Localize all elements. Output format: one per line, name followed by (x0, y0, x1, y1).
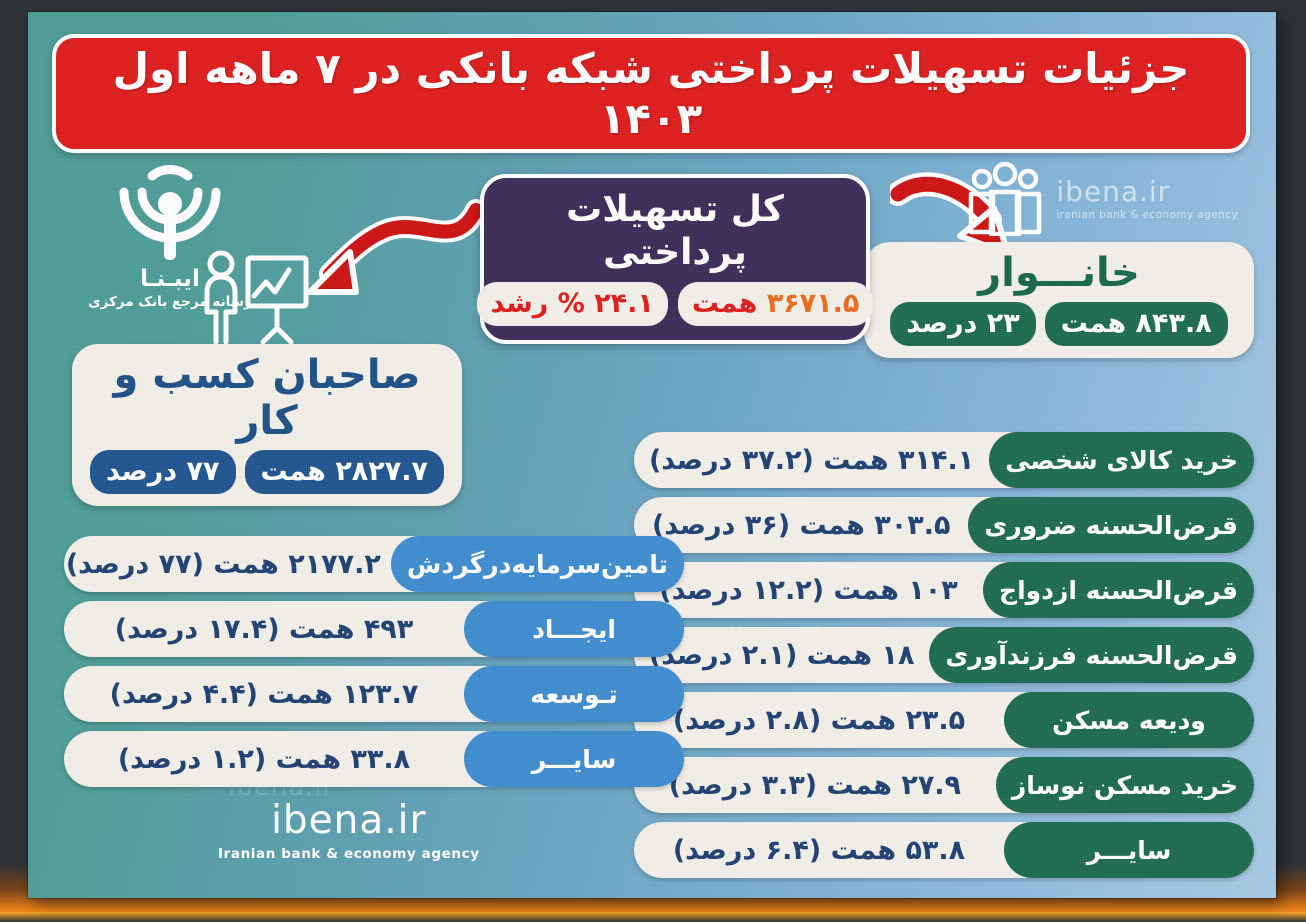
infographic-poster: ibena.ir ibena.ir ibena.ir ibena.ir جزئی… (28, 12, 1276, 898)
table-row: ودیعه مسکن۲۳.۵ همت (۲.۸ درصد) (634, 692, 1254, 748)
page-title: جزئیات تسهیلات پرداختی شبکه بانکی در ۷ م… (82, 44, 1220, 143)
ibena-footer-tagline: Iranian bank & economy agency (218, 846, 480, 862)
business-share-badge: ۷۷ درصد (90, 450, 235, 494)
row-label: خرید مسکن نوساز (996, 757, 1254, 813)
row-value: ۳۱۴.۱ همت (۳۷.۲ درصد) (634, 445, 989, 476)
ibena-logo: ایبـنـا رسانه مرجع بانک مرکزی (80, 160, 260, 310)
ibena-logo-tagline: رسانه مرجع بانک مرکزی (80, 294, 260, 310)
broadcast-antenna-icon (114, 160, 226, 264)
total-facilities-title: کل تسهیلات پرداختی (498, 188, 852, 274)
row-label: سایـــر (1004, 822, 1254, 878)
poster-title: جزئیات تسهیلات پرداختی شبکه بانکی در ۷ م… (52, 34, 1250, 153)
ibena-group-logo: ibena.ir iranian bank & economy agency (964, 162, 1238, 236)
curved-arrow-left-icon (304, 188, 482, 306)
row-label: قرض‌الحسنه ازدواج (983, 562, 1254, 618)
row-value: ۲۱۷۷.۲ همت (۷۷ درصد) (56, 549, 391, 580)
household-amount-badge: ۸۴۳.۸ همت (1045, 302, 1228, 346)
row-value: ۳۳.۸ همت (۱.۲ درصد) (64, 744, 464, 775)
ibena-footer-site: ibena.ir (218, 801, 480, 840)
table-row: قرض‌الحسنه ضروری۳۰۳.۵ همت (۳۶ درصد) (634, 497, 1254, 553)
people-group-icon (964, 162, 1046, 236)
row-value: ۱۰۳ همت (۱۲.۲ درصد) (634, 575, 983, 606)
table-row: سایـــر۳۳.۸ همت (۱.۲ درصد) (64, 731, 684, 787)
business-amount-badge: ۲۸۲۷.۷ همت (245, 450, 444, 494)
row-value: ۳۰۳.۵ همت (۳۶ درصد) (634, 510, 968, 541)
row-value: ۲۷.۹ همت (۳.۳ درصد) (634, 770, 996, 801)
total-growth-badge: ۲۴.۱ % رشد (477, 282, 668, 326)
table-row: سایـــر۵۳.۸ همت (۶.۴ درصد) (634, 822, 1254, 878)
household-section-card: خانـــوار ۸۴۳.۸ همت ۲۳ درصد (864, 242, 1254, 358)
row-label: تـوسعه (464, 666, 684, 722)
row-label: قرض‌الحسنه فرزندآوری (929, 627, 1254, 683)
ibena-header-tagline: iranian bank & economy agency (1056, 209, 1238, 221)
row-value: ۲۳.۵ همت (۲.۸ درصد) (634, 705, 1004, 736)
row-label: ودیعه مسکن (1004, 692, 1254, 748)
row-label: سایـــر (464, 731, 684, 787)
total-amount-unit: همت (692, 288, 757, 319)
ibena-footer-logo: ibena.ir Iranian bank & economy agency (218, 801, 480, 862)
row-value: ۵۳.۸ همت (۶.۴ درصد) (634, 835, 1004, 866)
table-row: ایجـــاد۴۹۳ همت (۱۷.۴ درصد) (64, 601, 684, 657)
row-label: خرید کالای شخصی (989, 432, 1254, 488)
table-row: قرض‌الحسنه ازدواج۱۰۳ همت (۱۲.۲ درصد) (634, 562, 1254, 618)
total-amount-badge: ۳۶۷۱.۵ همت (678, 282, 873, 326)
row-label: ایجـــاد (464, 601, 684, 657)
table-row: تـوسعه۱۲۳.۷ همت (۴.۴ درصد) (64, 666, 684, 722)
row-label: تامین‌سرمایه‌درگردش (391, 536, 684, 592)
table-row: تامین‌سرمایه‌درگردش۲۱۷۷.۲ همت (۷۷ درصد) (64, 536, 684, 592)
table-row: خرید مسکن نوساز۲۷.۹ همت (۳.۳ درصد) (634, 757, 1254, 813)
table-row: قرض‌الحسنه فرزندآوری۱۸ همت (۲.۱ درصد) (634, 627, 1254, 683)
row-label: قرض‌الحسنه ضروری (968, 497, 1254, 553)
household-breakdown-list: خرید کالای شخصی۳۱۴.۱ همت (۳۷.۲ درصد)قرض‌… (634, 432, 1254, 878)
business-section-title: صاحبان کسب و کار (86, 352, 448, 444)
business-section-card: صاحبان کسب و کار ۲۸۲۷.۷ همت ۷۷ درصد (72, 344, 462, 506)
household-share-badge: ۲۳ درصد (890, 302, 1035, 346)
total-amount-value: ۳۶۷۱.۵ (767, 288, 860, 319)
table-row: خرید کالای شخصی۳۱۴.۱ همت (۳۷.۲ درصد) (634, 432, 1254, 488)
household-section-title: خانـــوار (878, 250, 1240, 296)
row-value: ۴۹۳ همت (۱۷.۴ درصد) (64, 614, 464, 645)
row-value: ۱۲۳.۷ همت (۴.۴ درصد) (64, 679, 464, 710)
business-breakdown-list: تامین‌سرمایه‌درگردش۲۱۷۷.۲ همت (۷۷ درصد)ا… (64, 536, 684, 787)
ibena-header-site: ibena.ir (1056, 178, 1238, 206)
total-facilities-card: کل تسهیلات پرداختی ۳۶۷۱.۵ همت ۲۴.۱ % رشد (480, 174, 870, 344)
ibena-logo-fa: ایبـنـا (80, 266, 260, 292)
